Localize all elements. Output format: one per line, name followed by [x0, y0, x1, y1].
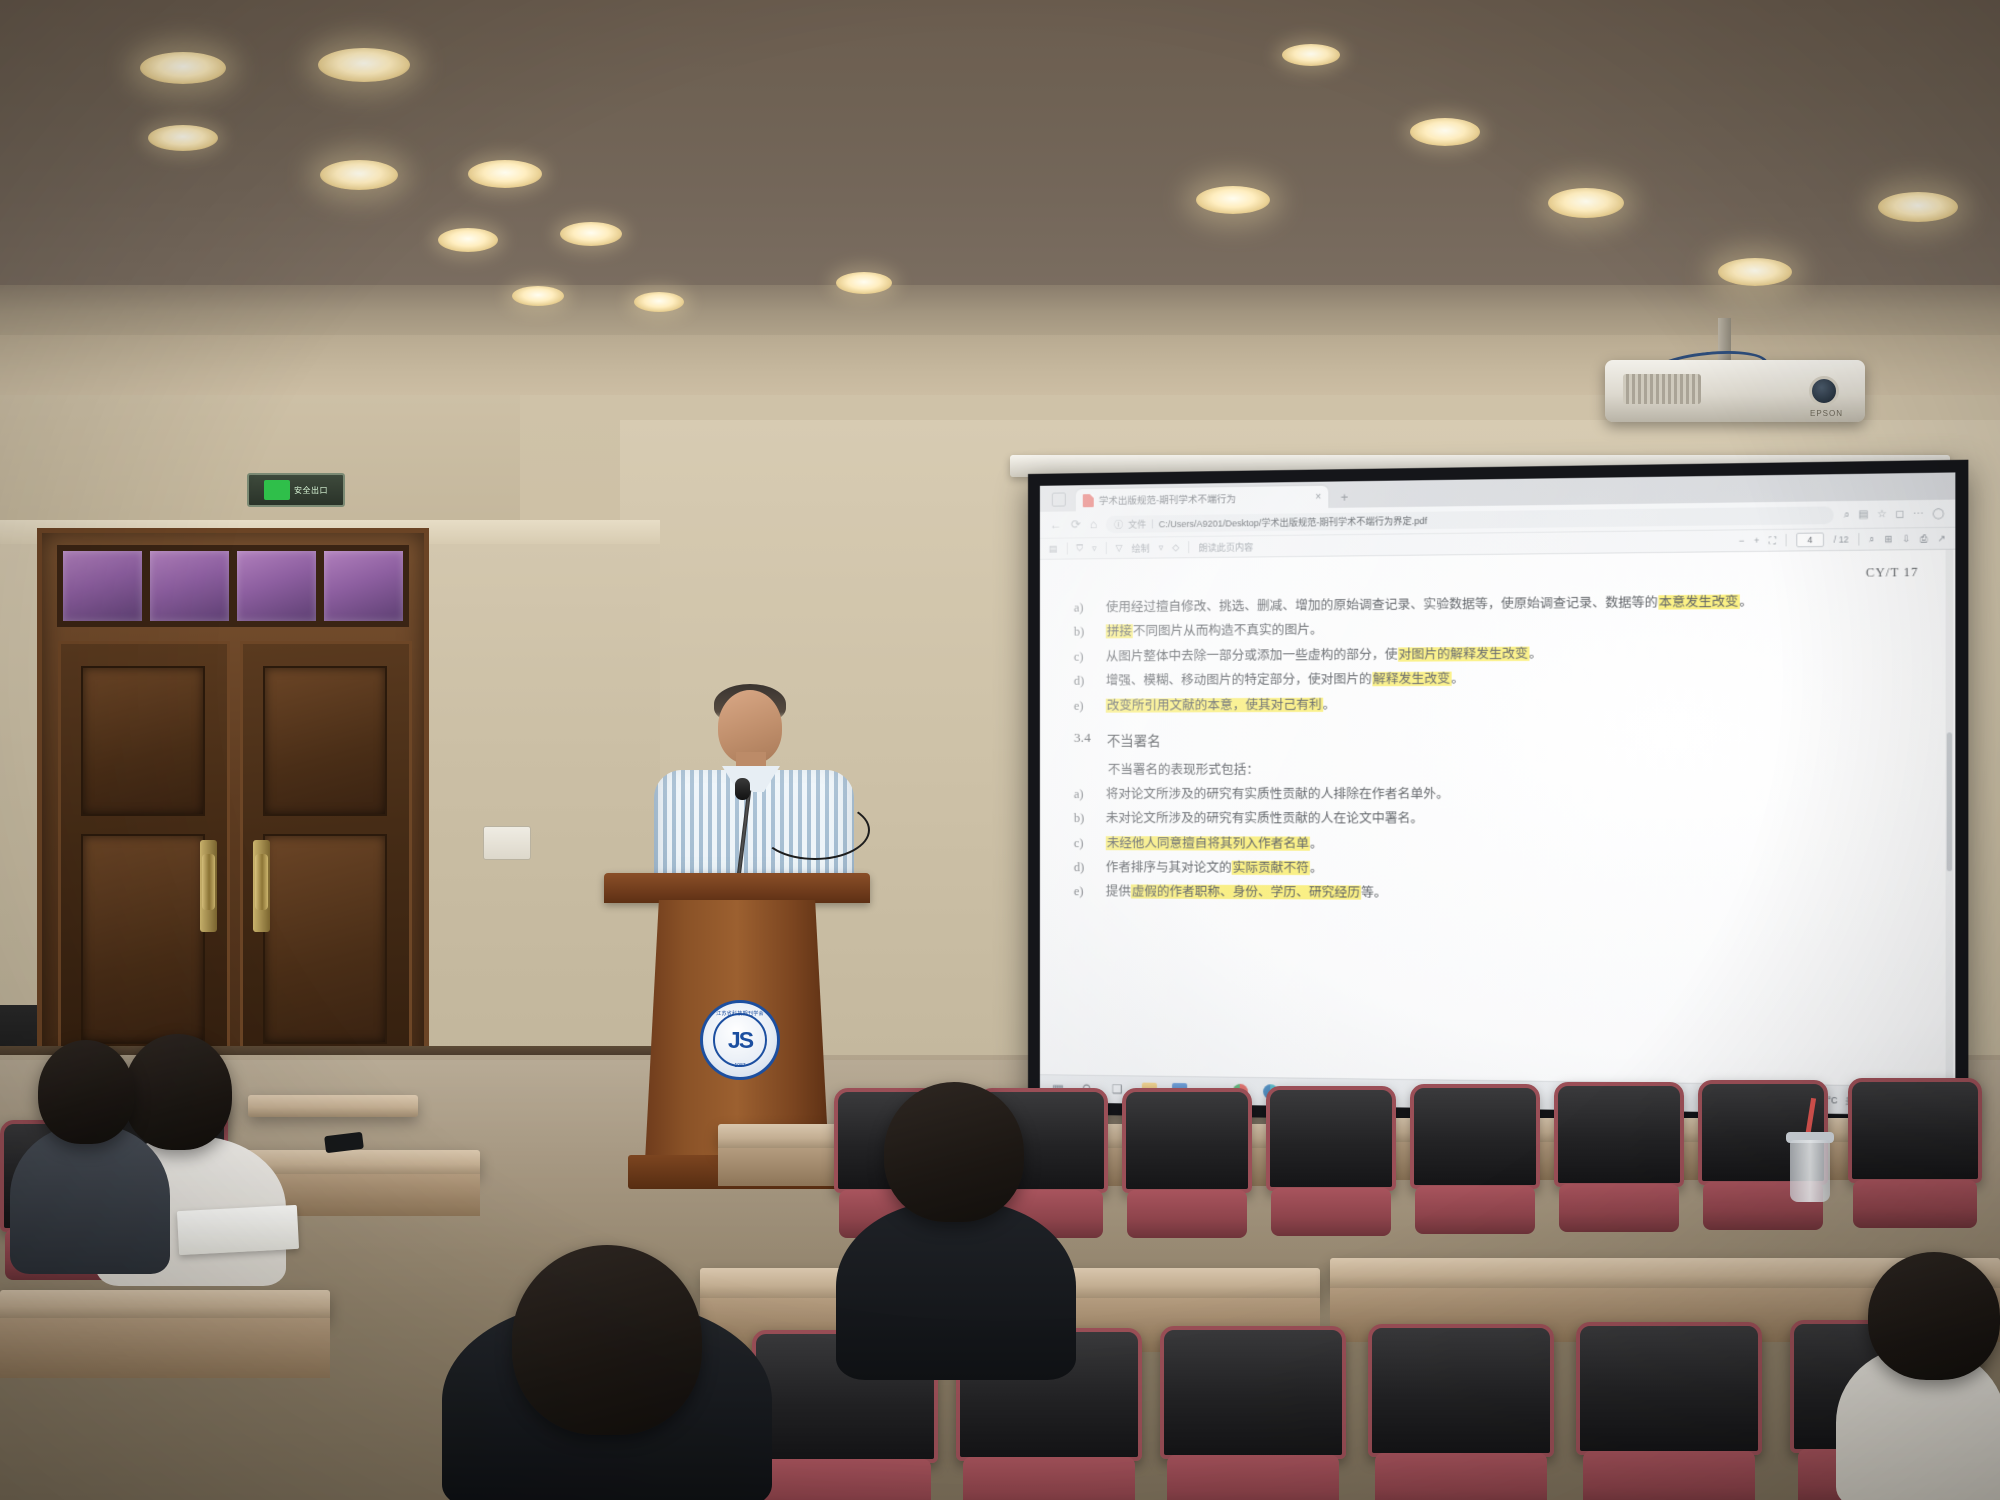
plain-text: 从图片整体中去除一部分或添加一些虚构的部分，使 [1106, 647, 1398, 663]
reload-icon[interactable]: ⟳ [1071, 517, 1081, 531]
pdf-scrollbar-track[interactable] [1946, 550, 1954, 1087]
ceiling-light [1196, 186, 1270, 214]
list-item-text: 使用经过擅自修改、挑选、删减、增加的原始调查记录、实验数据等，使原始调查记录、数… [1106, 591, 1919, 618]
document-list-item: b)未对论文所涉及的研究有实质性贡献的人在论文中署名。 [1074, 809, 1919, 830]
door-panel [263, 834, 387, 1044]
document-list-item: c)未经他人同意擅自将其列入作者名单。 [1074, 834, 1919, 856]
list-marker: c) [1074, 834, 1094, 853]
plain-text: 未对论文所涉及的研究有实质性贡献的人在论文中署名。 [1106, 811, 1424, 826]
chair [1576, 1322, 1762, 1500]
door-panel [81, 666, 205, 816]
ceiling-light [1548, 188, 1624, 218]
list-item-text: 将对论文所涉及的研究有实质性贡献的人排除在作者名单外。 [1106, 784, 1919, 804]
chair-seat [1583, 1451, 1754, 1500]
ceiling-light [1718, 258, 1792, 286]
omnibar-actions[interactable]: ⌕ ▤ ☆ ◻ ⋯ ◯ [1844, 508, 1945, 521]
pdf-highlight-icon[interactable]: ⛉ [1076, 543, 1083, 554]
toolbar-divider [1188, 541, 1189, 553]
ceiling-light [320, 160, 398, 190]
pdf-print-icon[interactable]: ⎙ [1920, 533, 1928, 545]
chair [1848, 1078, 1982, 1228]
chair-seat [1375, 1453, 1546, 1500]
pdf-highlight-color-icon[interactable]: ▿ [1092, 543, 1097, 554]
exit-running-man-icon [264, 480, 290, 500]
list-item-text: 拼接不同图片从而构造不真实的图片。 [1106, 616, 1919, 642]
url-text: C:/Users/A9201/Desktop/学术出版规范-期刊学术不端行为界定… [1159, 513, 1427, 530]
document-list-item: c)从图片整体中去除一部分或添加一些虚构的部分，使对图片的解释发生改变。 [1074, 642, 1919, 667]
ceiling-light [148, 125, 218, 151]
exit-sign-label: 安全出口 [294, 485, 328, 496]
chair [1410, 1084, 1540, 1234]
list-item-text: 改变所引用文献的本意，使其对己有利。 [1106, 692, 1919, 715]
toolbar-spacer [1262, 541, 1729, 546]
document-list-one: a)使用经过擅自修改、挑选、删减、增加的原始调查记录、实验数据等，使原始调查记录… [1074, 591, 1919, 716]
audience-shoulders [10, 1124, 170, 1274]
list-item-text: 未经他人同意擅自将其列入作者名单。 [1106, 834, 1919, 856]
plain-text: 。 [1529, 646, 1542, 660]
document-list-item: e)提供虚假的作者职称、身份、学历、研究经历等。 [1074, 883, 1919, 907]
document-section-intro: 不当署名的表现形式包括： [1108, 757, 1919, 777]
audience-head [38, 1040, 134, 1144]
section-number: 3.4 [1074, 730, 1091, 750]
emblem-inner-ring: JS [713, 1013, 767, 1067]
list-marker: b) [1074, 809, 1094, 828]
emblem-top-text: 江苏省科技期刊学会 [716, 1010, 764, 1017]
podium-emblem: 江苏省科技期刊学会 JS 1987 [700, 1000, 780, 1080]
plain-text: 。 [1451, 672, 1464, 686]
plain-text: 。 [1310, 861, 1323, 875]
transom-pane [237, 551, 316, 621]
site-info-icon[interactable]: ⓘ [1114, 517, 1123, 530]
ceiling-light [836, 272, 892, 294]
ceiling-light [560, 222, 622, 246]
microphone-icon [735, 778, 750, 800]
chair [1554, 1082, 1684, 1232]
highlighted-text: 虚假的作者职称、身份、学历、研究经历 [1131, 885, 1361, 900]
audience-head [124, 1034, 232, 1150]
chair [1160, 1326, 1346, 1500]
document-list-item: d)增强、模糊、移动图片的特定部分，使对图片的解释发生改变。 [1074, 667, 1919, 691]
projector-lens-icon [1809, 376, 1839, 406]
list-item-text: 增强、模糊、移动图片的特定部分，使对图片的解释发生改变。 [1106, 667, 1919, 691]
pdf-download-icon[interactable]: ⇩ [1902, 533, 1910, 545]
chair-back [1368, 1324, 1554, 1457]
browser-window[interactable]: 学术出版规范-期刊学术不端行为 × + ← ⟳ ⌂ ⓘ 文件 | C:/User… [1040, 472, 1955, 1115]
double-door[interactable] [37, 528, 429, 1076]
door-panel [81, 834, 205, 1044]
chair-back [1266, 1086, 1396, 1191]
paper-notebook [177, 1205, 299, 1255]
ceiling-light [1410, 118, 1480, 146]
close-icon[interactable]: × [1315, 491, 1321, 502]
omnibar-split-icon[interactable]: ◻ [1895, 508, 1904, 520]
audience-head [884, 1082, 1024, 1222]
list-marker: d) [1074, 672, 1094, 692]
chair-seat [1127, 1190, 1247, 1238]
chair-seat [759, 1459, 930, 1500]
ceiling-light [512, 286, 564, 306]
tab-list-icon[interactable] [1052, 492, 1066, 506]
ceiling-light [438, 228, 498, 252]
chair-seat [1271, 1188, 1391, 1236]
plain-text: 使用经过擅自修改、挑选、删减、增加的原始调查记录、实验数据等，使原始调查记录、数… [1106, 595, 1658, 614]
podium-top [604, 873, 870, 903]
section-title: 不当署名 [1107, 729, 1161, 749]
emblem-glyph: JS [728, 1027, 752, 1054]
desk-front-left-lower [0, 1318, 330, 1378]
highlighted-text: 拼接 [1106, 625, 1133, 639]
chair-back [1410, 1084, 1540, 1189]
audience-head [1868, 1252, 2000, 1380]
url-separator: | [1151, 518, 1153, 528]
chair [1266, 1086, 1396, 1236]
tab-title: 学术出版规范-期刊学术不端行为 [1099, 490, 1310, 507]
pdf-read-aloud-label[interactable]: 朗读此页内容 [1198, 540, 1253, 554]
toolbar-divider [1066, 543, 1067, 555]
page-total-label: / 12 [1834, 534, 1849, 545]
chair-back [1160, 1326, 1346, 1459]
list-item-text: 未对论文所涉及的研究有实质性贡献的人在论文中署名。 [1106, 809, 1919, 830]
document-list-item: a)使用经过擅自修改、挑选、删减、增加的原始调查记录、实验数据等，使原始调查记录… [1074, 591, 1919, 618]
ceiling-light [140, 52, 226, 84]
chair-back [1848, 1078, 1982, 1183]
list-marker: d) [1074, 858, 1094, 877]
chair-back [1554, 1082, 1684, 1187]
document-list-two: a)将对论文所涉及的研究有实质性贡献的人排除在作者名单外。b)未对论文所涉及的研… [1074, 784, 1919, 906]
new-tab-icon[interactable]: + [1330, 489, 1358, 508]
pdf-file-icon [1083, 494, 1094, 507]
chair [1122, 1088, 1252, 1238]
door-handle[interactable] [255, 854, 268, 910]
highlighted-text: 未经他人同意擅自将其列入作者名单 [1106, 836, 1310, 851]
pdf-page: CY/T 17 a)使用经过擅自修改、挑选、删减、增加的原始调查记录、实验数据等… [1040, 550, 1955, 1087]
document-list-item: d)作者排序与其对论文的实际贡献不符。 [1074, 858, 1919, 881]
back-icon[interactable]: ← [1050, 518, 1062, 532]
exit-sign: 安全出口 [247, 473, 345, 507]
door-handle[interactable] [202, 854, 215, 910]
toolbar-divider [1106, 542, 1107, 554]
ceiling-light [468, 160, 542, 188]
toolbar-divider [1858, 533, 1859, 545]
omnibar-collections-icon[interactable]: ▤ [1858, 509, 1868, 521]
omnibar-favorite-icon[interactable]: ☆ [1877, 508, 1887, 520]
document-standard-header: CY/T 17 [1074, 565, 1919, 589]
drink-cup [1790, 1140, 1830, 1202]
emblem-year-text: 1987 [734, 1063, 745, 1069]
document-list-item: a)将对论文所涉及的研究有实质性贡献的人排除在作者名单外。 [1074, 784, 1919, 804]
lecture-hall-scene: 安全出口 EPSON [0, 0, 2000, 1500]
chair-seat [963, 1457, 1134, 1500]
microphone-cable [760, 800, 870, 860]
list-marker: e) [1074, 696, 1094, 716]
door-leaf-left[interactable] [58, 641, 230, 1065]
plain-text: 将对论文所涉及的研究有实质性贡献的人排除在作者名单外。 [1106, 787, 1449, 801]
audience-head [512, 1245, 702, 1435]
transom-pane [63, 551, 142, 621]
door-leaf-right[interactable] [240, 641, 412, 1065]
list-marker: b) [1074, 623, 1094, 643]
highlighted-text: 对图片的解释发生改变 [1398, 646, 1529, 661]
list-item-text: 从图片整体中去除一部分或添加一些虚构的部分，使对图片的解释发生改变。 [1106, 642, 1919, 667]
pdf-rotate-icon[interactable]: ⊞ [1884, 533, 1892, 545]
home-icon[interactable]: ⌂ [1090, 517, 1097, 531]
omnibar-profile-icon[interactable]: ◯ [1932, 508, 1944, 520]
list-item-text: 提供虚假的作者职称、身份、学历、研究经历等。 [1106, 883, 1919, 907]
pdf-draw-color-icon[interactable]: ▿ [1159, 542, 1164, 553]
chair-back [1576, 1322, 1762, 1455]
chair-seat [1559, 1184, 1679, 1232]
projection-screen: 学术出版规范-期刊学术不端行为 × + ← ⟳ ⌂ ⓘ 文件 | C:/User… [1028, 460, 1968, 1129]
screen-surface: 学术出版规范-期刊学术不端行为 × + ← ⟳ ⌂ ⓘ 文件 | C:/User… [1040, 472, 1955, 1115]
transom-pane [324, 551, 403, 621]
ceiling-light [634, 292, 684, 312]
list-marker: c) [1074, 647, 1094, 667]
pdf-sidebar-icon[interactable]: ▤ [1049, 543, 1057, 554]
document-section-heading: 3.4 不当署名 [1074, 727, 1919, 750]
pdf-draw-icon[interactable]: ▽ [1116, 542, 1123, 553]
chair-seat [1415, 1186, 1535, 1234]
fit-page-icon[interactable]: ⛶ [1769, 535, 1776, 546]
ceiling-light [318, 48, 410, 82]
plain-text: 作者排序与其对论文的 [1106, 860, 1232, 875]
page-number-input[interactable]: 4 [1796, 532, 1824, 547]
chair-seat [1167, 1455, 1338, 1500]
door-panel [263, 666, 387, 816]
plain-text: 提供 [1106, 885, 1131, 899]
plain-text: 。 [1323, 697, 1336, 711]
zoom-in-icon[interactable]: + [1754, 535, 1760, 545]
projector-vent [1623, 374, 1701, 404]
document-list-item: b)拼接不同图片从而构造不真实的图片。 [1074, 616, 1919, 642]
highlighted-text: 解释发生改变 [1372, 672, 1451, 687]
transom-pane [150, 551, 229, 621]
plain-text: 。 [1310, 836, 1323, 850]
omnibar-more-icon[interactable]: ⋯ [1913, 508, 1924, 520]
omnibar-search-icon[interactable]: ⌕ [1844, 509, 1850, 521]
chair [1368, 1324, 1554, 1500]
ceiling [0, 0, 2000, 330]
pdf-erase-icon[interactable]: ◇ [1172, 542, 1179, 553]
toolbar-divider [1785, 534, 1786, 546]
projector: EPSON [1605, 360, 1865, 422]
plain-text: 等。 [1361, 886, 1387, 900]
document-list-item: e)改变所引用文献的本意，使其对己有利。 [1074, 692, 1919, 715]
wall-socket-plate [483, 826, 531, 860]
plain-text: 增强、模糊、移动图片的特定部分，使对图片的 [1106, 672, 1372, 688]
highlighted-text: 本意发生改变 [1658, 594, 1739, 609]
plain-text: 。 [1739, 594, 1752, 609]
ceiling-light [1282, 44, 1340, 66]
projector-brand-label: EPSON [1810, 409, 1843, 418]
url-scheme-label: 文件 [1128, 517, 1146, 530]
audience-shoulders [836, 1200, 1076, 1380]
zoom-out-icon[interactable]: − [1739, 535, 1745, 545]
plain-text: 不同图片从而构造不真实的图片。 [1133, 623, 1323, 639]
pdf-more-icon[interactable]: ↗ [1937, 533, 1945, 545]
list-item-text: 作者排序与其对论文的实际贡献不符。 [1106, 858, 1919, 881]
pdf-search-icon[interactable]: ⌕ [1869, 533, 1874, 545]
desk-left-front [248, 1095, 418, 1117]
chair-seat [1853, 1180, 1976, 1228]
highlighted-text: 实际贡献不符 [1232, 861, 1310, 875]
pdf-scrollbar-thumb[interactable] [1947, 732, 1952, 871]
ceiling-light [1878, 192, 1958, 222]
list-marker: e) [1074, 883, 1094, 903]
chair-back [1122, 1088, 1252, 1193]
list-marker: a) [1074, 785, 1094, 804]
list-marker: a) [1074, 598, 1094, 618]
door-transom [57, 545, 409, 627]
pdf-draw-label[interactable]: 绘制 [1132, 541, 1150, 554]
desk-left-lower [0, 1290, 330, 1320]
highlighted-text: 改变所引用文献的本意，使其对己有利 [1106, 697, 1323, 712]
